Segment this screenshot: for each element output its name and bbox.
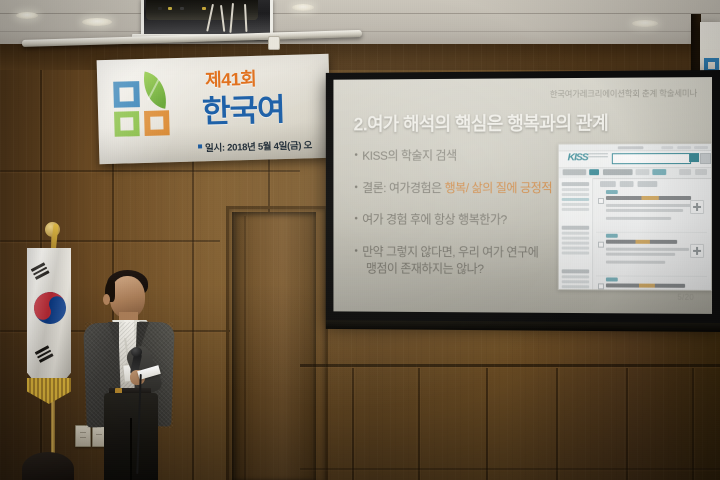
kiss-result-item[interactable] xyxy=(596,277,707,291)
banner-org-label: 한국여 xyxy=(201,84,285,131)
kiss-advanced-search-button[interactable] xyxy=(700,153,711,164)
kiss-logo: KISS xyxy=(568,151,588,163)
bullet-highlight-text: 행복/ 삶의 질에 긍정적 xyxy=(445,181,553,195)
bullet-dot-icon: • xyxy=(354,181,357,195)
kiss-result-item[interactable] xyxy=(596,234,707,277)
kiss-search-button[interactable] xyxy=(689,153,699,162)
kiss-add-button[interactable] xyxy=(690,244,704,258)
projection-screen: 한국여가레크리에이션학회 춘계 학술세미나 2.여가 해석의 핵심은 행복과의 … xyxy=(326,70,720,324)
banner-date-bullet-icon xyxy=(198,144,202,148)
kiss-add-button[interactable] xyxy=(690,200,704,214)
event-banner: 제41회 한국여 일시: 2018년 5월 4일(금) 오 xyxy=(97,54,332,164)
cabinet-top-edge xyxy=(300,364,720,367)
ceiling-downlight xyxy=(292,4,314,11)
leaf-icon xyxy=(139,71,172,108)
kiss-search-input[interactable] xyxy=(612,153,691,164)
kiss-filter-sidebar[interactable] xyxy=(559,178,593,289)
kiss-result-item[interactable] xyxy=(596,190,707,233)
taeguk-symbol-icon xyxy=(28,286,71,329)
presentation-slide: 한국여가레크리에이션학회 춘계 학술세미나 2.여가 해석의 핵심은 행복과의 … xyxy=(333,77,712,314)
bullet-dot-icon: • xyxy=(354,213,357,227)
presenter-speaker xyxy=(78,268,184,480)
bullet-text: KISS의 학술지 검색 xyxy=(362,149,456,163)
banner-date-label: 일시: 2018년 5월 4일(금) 오 xyxy=(205,137,312,154)
bullet-text: 만약 그렇지 않다면, 우리 여가 연구에 xyxy=(362,245,538,259)
audience-member-head xyxy=(22,452,74,480)
slide-page-number: 5/20 xyxy=(677,293,694,302)
bullet-text: 여가 경험 후에 항상 행복한가? xyxy=(362,213,507,227)
ceiling-downlight xyxy=(16,12,38,19)
south-korea-flag xyxy=(27,248,71,400)
slide-title: 2.여가 해석의 핵심은 행복과의 관계 xyxy=(354,110,609,137)
slide-header-text: 한국여가레크리에이션학회 춘계 학술세미나 xyxy=(550,87,697,100)
microphone-head-icon xyxy=(131,347,142,357)
trigram-geon-icon xyxy=(31,262,51,281)
trigram-gam-icon xyxy=(35,345,55,364)
bullet-text: 결론: 여가경험은 xyxy=(362,181,444,195)
ceiling-projector xyxy=(146,0,258,20)
kiss-search-screenshot: KISS xyxy=(558,143,712,291)
ceiling-downlight xyxy=(632,20,658,27)
bullet-dot-icon: • xyxy=(354,149,357,163)
conference-photo-scene: 제41회 한국여 일시: 2018년 5월 4일(금) 오 한국여가레크리에이션… xyxy=(0,0,720,480)
association-logo-icon xyxy=(113,74,175,138)
ceiling-downlight xyxy=(82,18,112,26)
bullet-dot-icon: • xyxy=(354,245,357,259)
